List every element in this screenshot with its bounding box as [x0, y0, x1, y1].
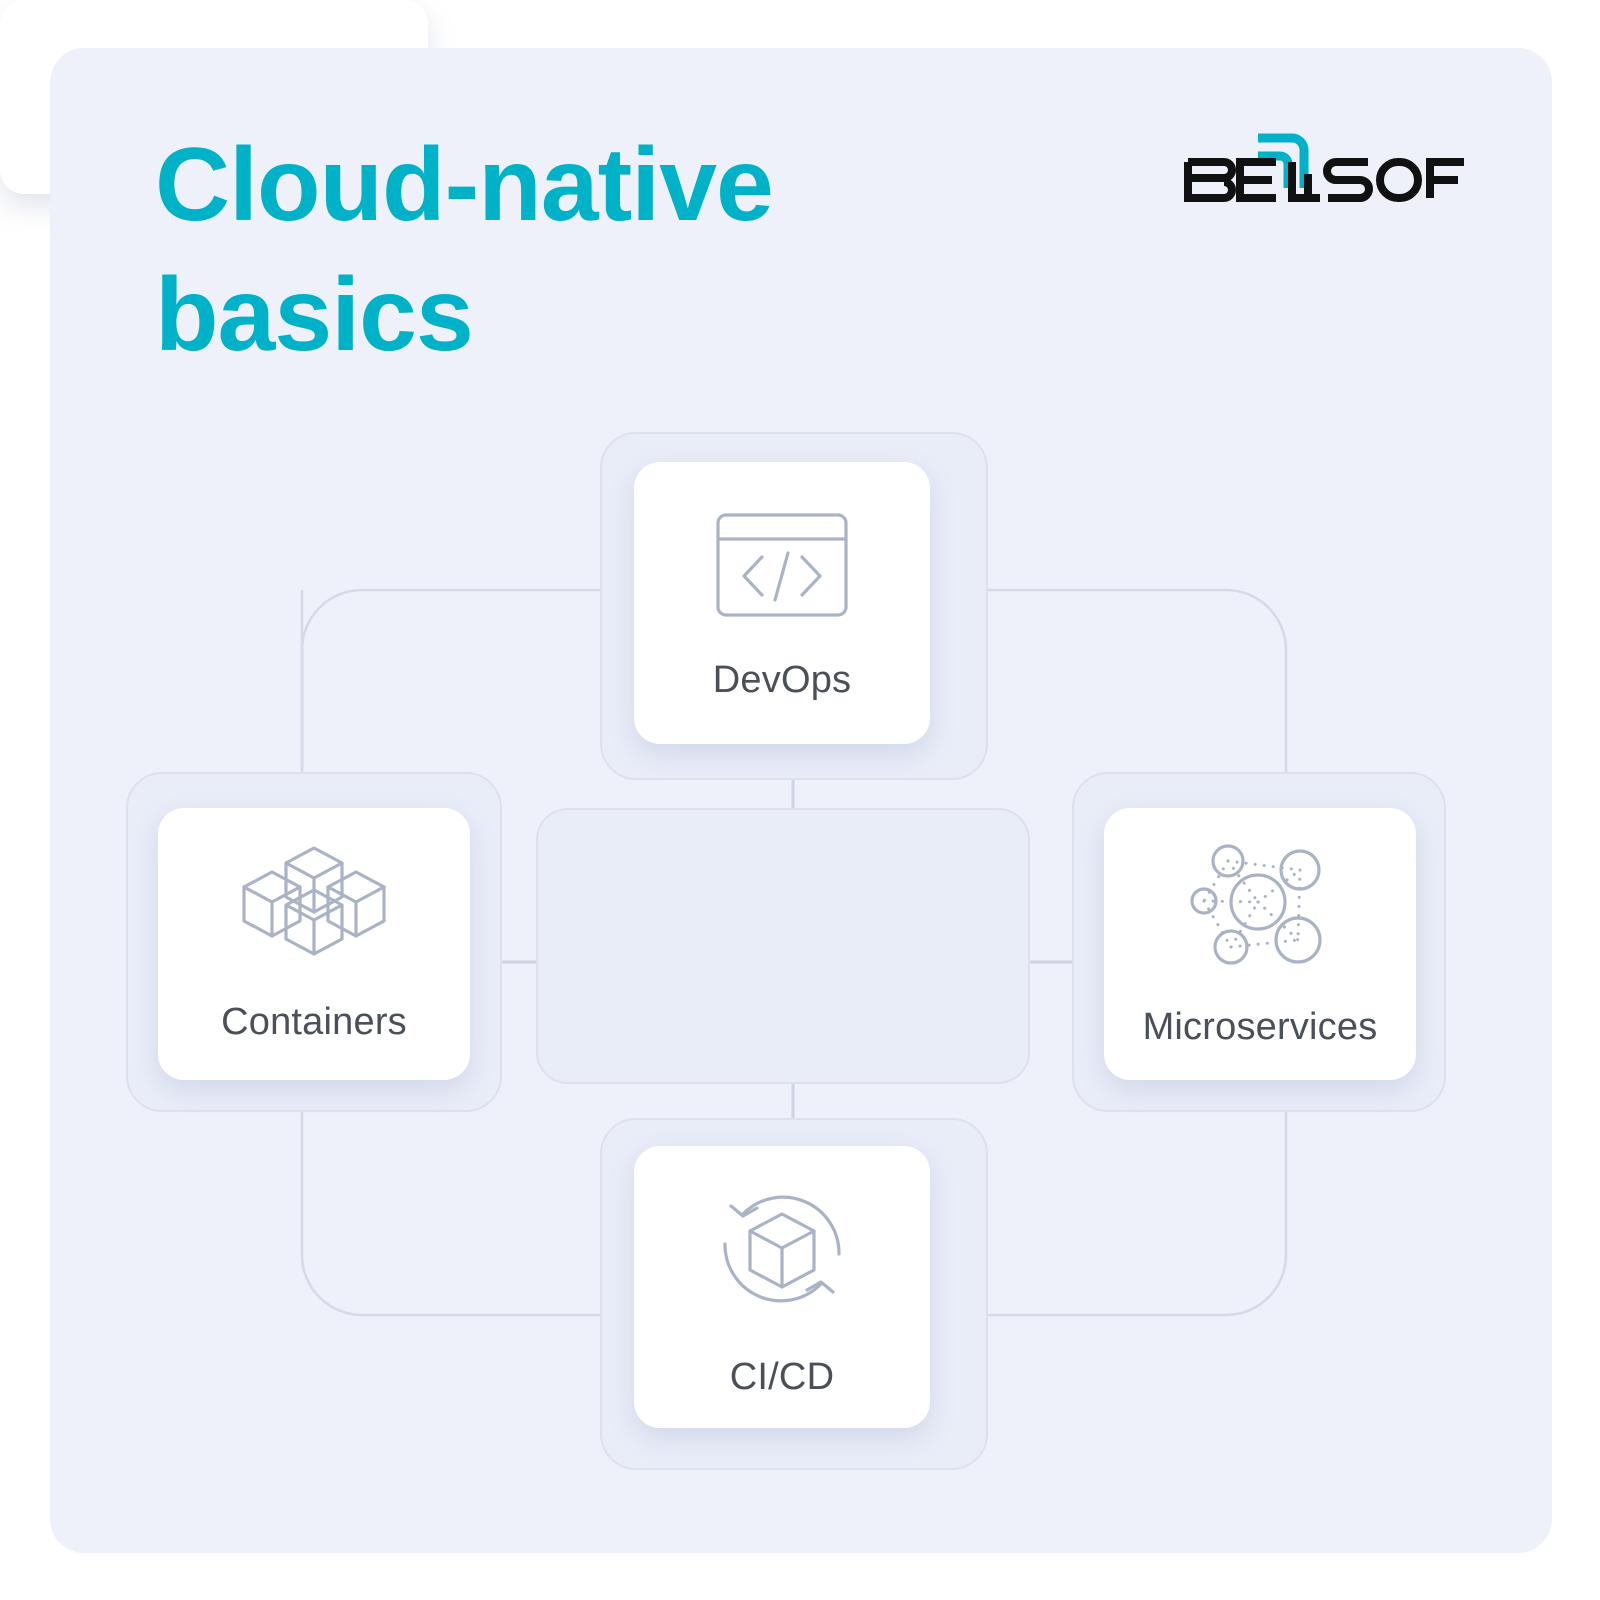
frame-center	[536, 808, 1030, 1084]
node-label-cicd: CI/CD	[730, 1356, 834, 1399]
page-title: Cloud-native basics	[155, 120, 915, 380]
node-card-microservices[interactable]: Microservices	[1104, 808, 1416, 1080]
node-label-containers: Containers	[221, 1001, 407, 1044]
cube-cycle-icon	[709, 1176, 855, 1322]
code-window-icon	[712, 505, 852, 625]
network-graph-icon	[1180, 840, 1340, 972]
node-label-devops: DevOps	[713, 659, 851, 702]
node-card-cicd[interactable]: CI/CD	[634, 1146, 930, 1428]
node-label-microservices: Microservices	[1143, 1006, 1378, 1049]
title-line-1: Cloud-native	[155, 120, 915, 250]
cubes-stack-icon	[234, 845, 394, 967]
logo-wordmark	[1188, 162, 1464, 198]
title-line-2: basics	[155, 250, 915, 380]
node-card-containers[interactable]: Containers	[158, 808, 470, 1080]
infographic-root: Cloud-native basics	[0, 0, 1600, 1600]
node-card-devops[interactable]: DevOps	[634, 462, 930, 744]
bellsoft-logo	[1180, 130, 1470, 210]
